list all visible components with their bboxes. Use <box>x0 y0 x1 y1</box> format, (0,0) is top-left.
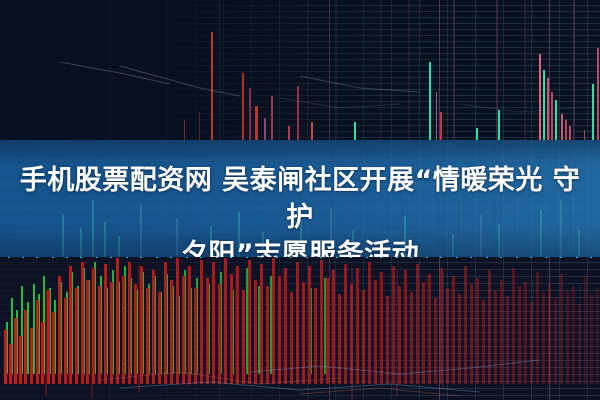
headline-text: 手机股票配资网 吴泰闸社区开展“情暖荣光 守护 夕阳”志愿服务活动 <box>0 162 600 257</box>
banner-image: 手机股票配资网 吴泰闸社区开展“情暖荣光 守护 夕阳”志愿服务活动 <box>0 0 600 400</box>
headline-banner: 手机股票配资网 吴泰闸社区开展“情暖荣光 守护 夕阳”志愿服务活动 <box>0 140 600 257</box>
